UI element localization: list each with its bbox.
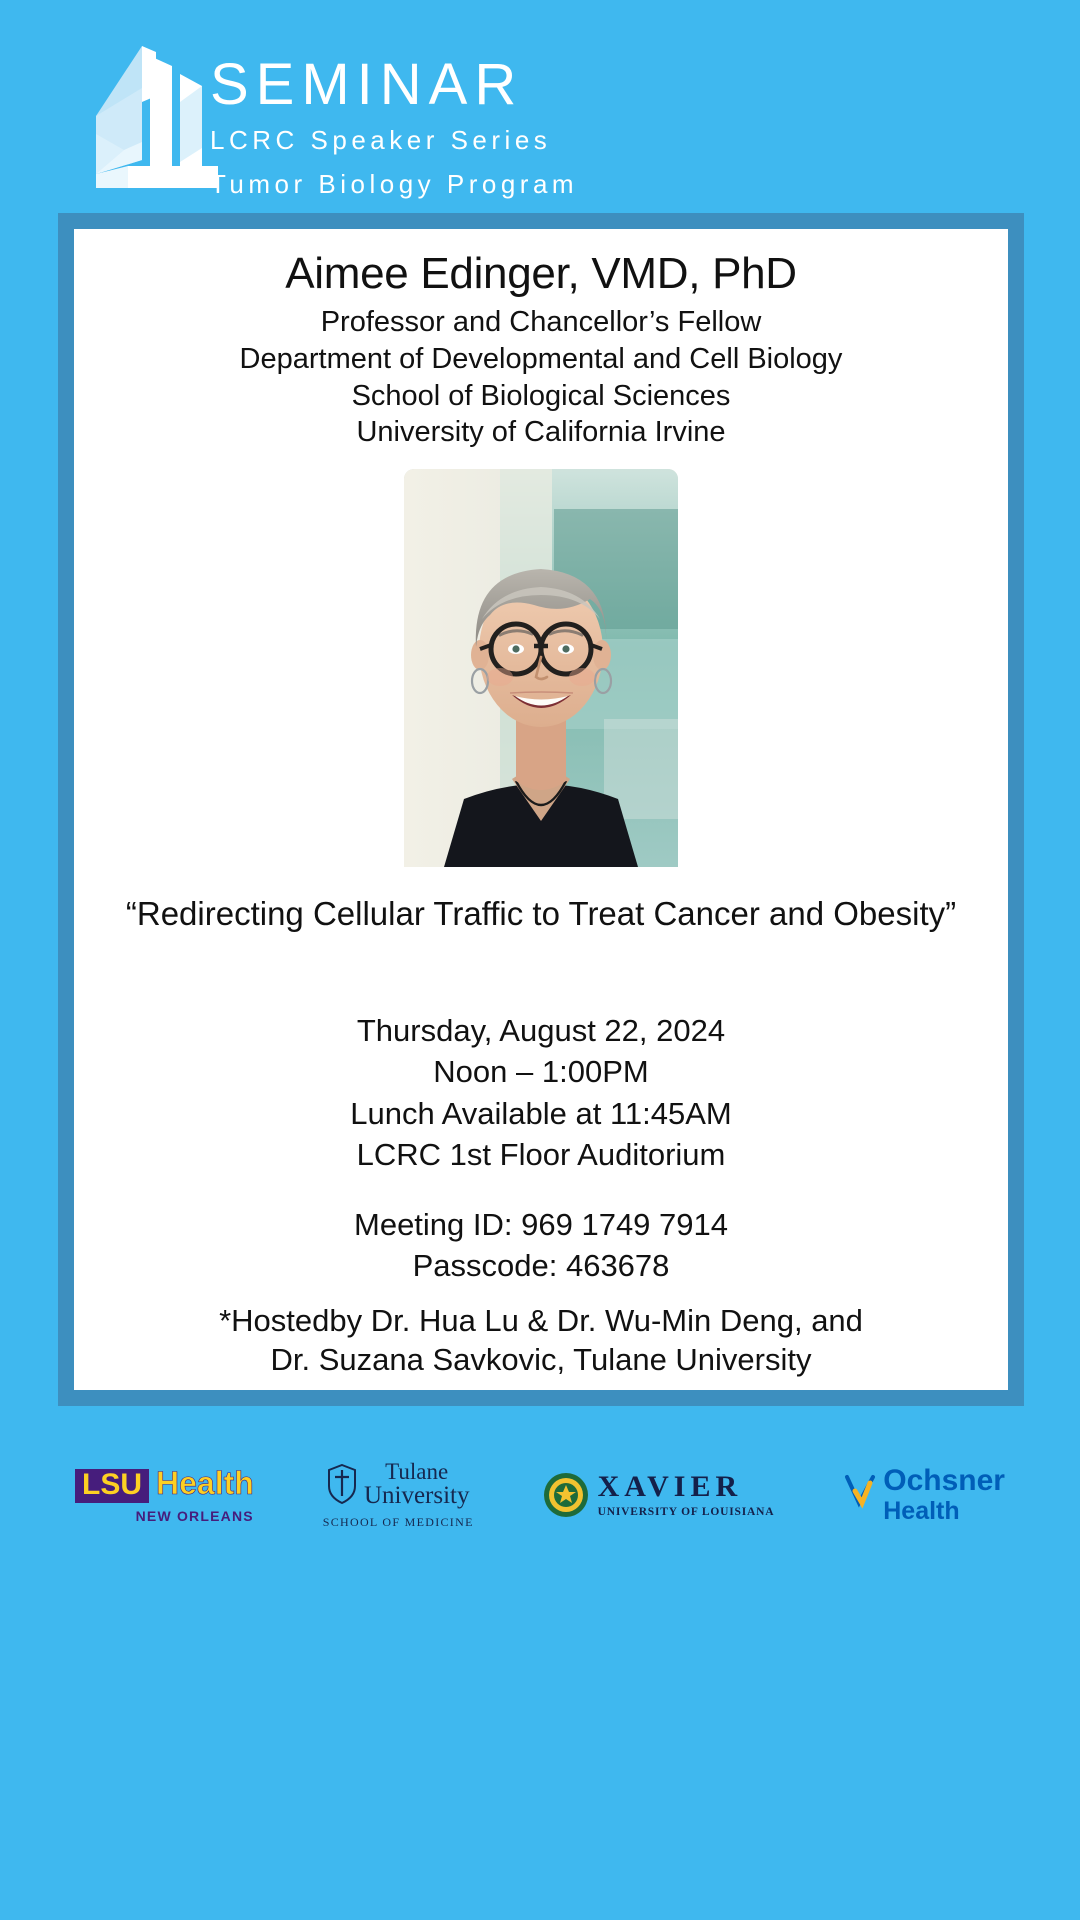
affiliation-line-2: Department of Developmental and Cell Bio… — [74, 342, 1008, 377]
lsu-new-orleans: NEW ORLEANS — [136, 1508, 254, 1524]
ochsner-checkmark-icon — [843, 1473, 877, 1517]
seminar-poster: SEMINAR LCRC Speaker Series Tumor Biolog… — [0, 0, 1080, 1920]
header-text-block: SEMINAR LCRC Speaker Series Tumor Biolog… — [210, 55, 578, 200]
ochsner-word-1: Ochsner — [883, 1466, 1005, 1496]
seminar-title: SEMINAR — [210, 55, 578, 116]
affiliation-line-3: School of Biological Sciences — [74, 379, 1008, 414]
xavier-subtitle: UNIVERSITY OF LOUISIANA — [598, 1506, 775, 1518]
seminar-subtitle-series: LCRC Speaker Series — [210, 125, 578, 156]
hosts-line-2: Dr. Suzana Savkovic, Tulane University — [114, 1340, 968, 1379]
ochsner-word-2: Health — [883, 1499, 1005, 1524]
footer-logo-strip: LSU Health NEW ORLEANS Tulane University — [0, 1430, 1080, 1560]
content-card: Aimee Edinger, VMD, PhD Professor and Ch… — [74, 229, 1008, 1390]
xavier-university-logo: XAVIER UNIVERSITY OF LOUISIANA — [543, 1472, 775, 1518]
xavier-seal-icon — [543, 1472, 589, 1518]
tulane-university-logo: Tulane University SCHOOL OF MEDICINE — [323, 1460, 474, 1530]
event-date: Thursday, August 22, 2024 — [114, 1012, 968, 1050]
meeting-passcode: Passcode: 463678 — [114, 1247, 968, 1285]
affiliation-line-4: University of California Irvine — [74, 415, 1008, 450]
hosts-line-1: *Hostedby Dr. Hua Lu & Dr. Wu-Min Deng, … — [114, 1301, 968, 1340]
speaker-affiliations: Professor and Chancellor’s Fellow Depart… — [74, 305, 1008, 450]
xavier-name: XAVIER — [598, 1472, 775, 1502]
tulane-word-1: Tulane — [385, 1460, 448, 1483]
details-spacer — [114, 1175, 968, 1203]
lsu-health-logo: LSU Health NEW ORLEANS — [75, 1467, 254, 1524]
hosts-block: *Hostedby Dr. Hua Lu & Dr. Wu-Min Deng, … — [114, 1301, 968, 1379]
poster-header: SEMINAR LCRC Speaker Series Tumor Biolog… — [0, 0, 1080, 215]
seminar-subtitle-program: Tumor Biology Program — [210, 169, 578, 200]
tulane-word-2: University — [364, 1483, 470, 1508]
tulane-shield-icon — [327, 1464, 357, 1504]
content-card-frame: Aimee Edinger, VMD, PhD Professor and Ch… — [58, 213, 1024, 1406]
meeting-id: Meeting ID: 969 1749 7914 — [114, 1206, 968, 1244]
event-time: Noon – 1:00PM — [114, 1053, 968, 1091]
tulane-school-of-medicine: SCHOOL OF MEDICINE — [323, 1515, 474, 1530]
affiliation-line-1: Professor and Chancellor’s Fellow — [74, 305, 1008, 340]
lsu-mark: LSU — [75, 1469, 149, 1503]
speaker-name: Aimee Edinger, VMD, PhD — [74, 249, 1008, 299]
event-location: LCRC 1st Floor Auditorium — [114, 1136, 968, 1174]
event-details: Thursday, August 22, 2024 Noon – 1:00PM … — [114, 1009, 968, 1286]
lsu-health-word: Health — [156, 1467, 254, 1499]
talk-title: “Redirecting Cellular Traffic to Treat C… — [124, 894, 958, 934]
event-lunch: Lunch Available at 11:45AM — [114, 1095, 968, 1133]
lcrc-building-logo-icon — [68, 38, 218, 188]
ochsner-health-logo: Ochsner Health — [843, 1466, 1005, 1524]
speaker-portrait — [404, 469, 678, 867]
